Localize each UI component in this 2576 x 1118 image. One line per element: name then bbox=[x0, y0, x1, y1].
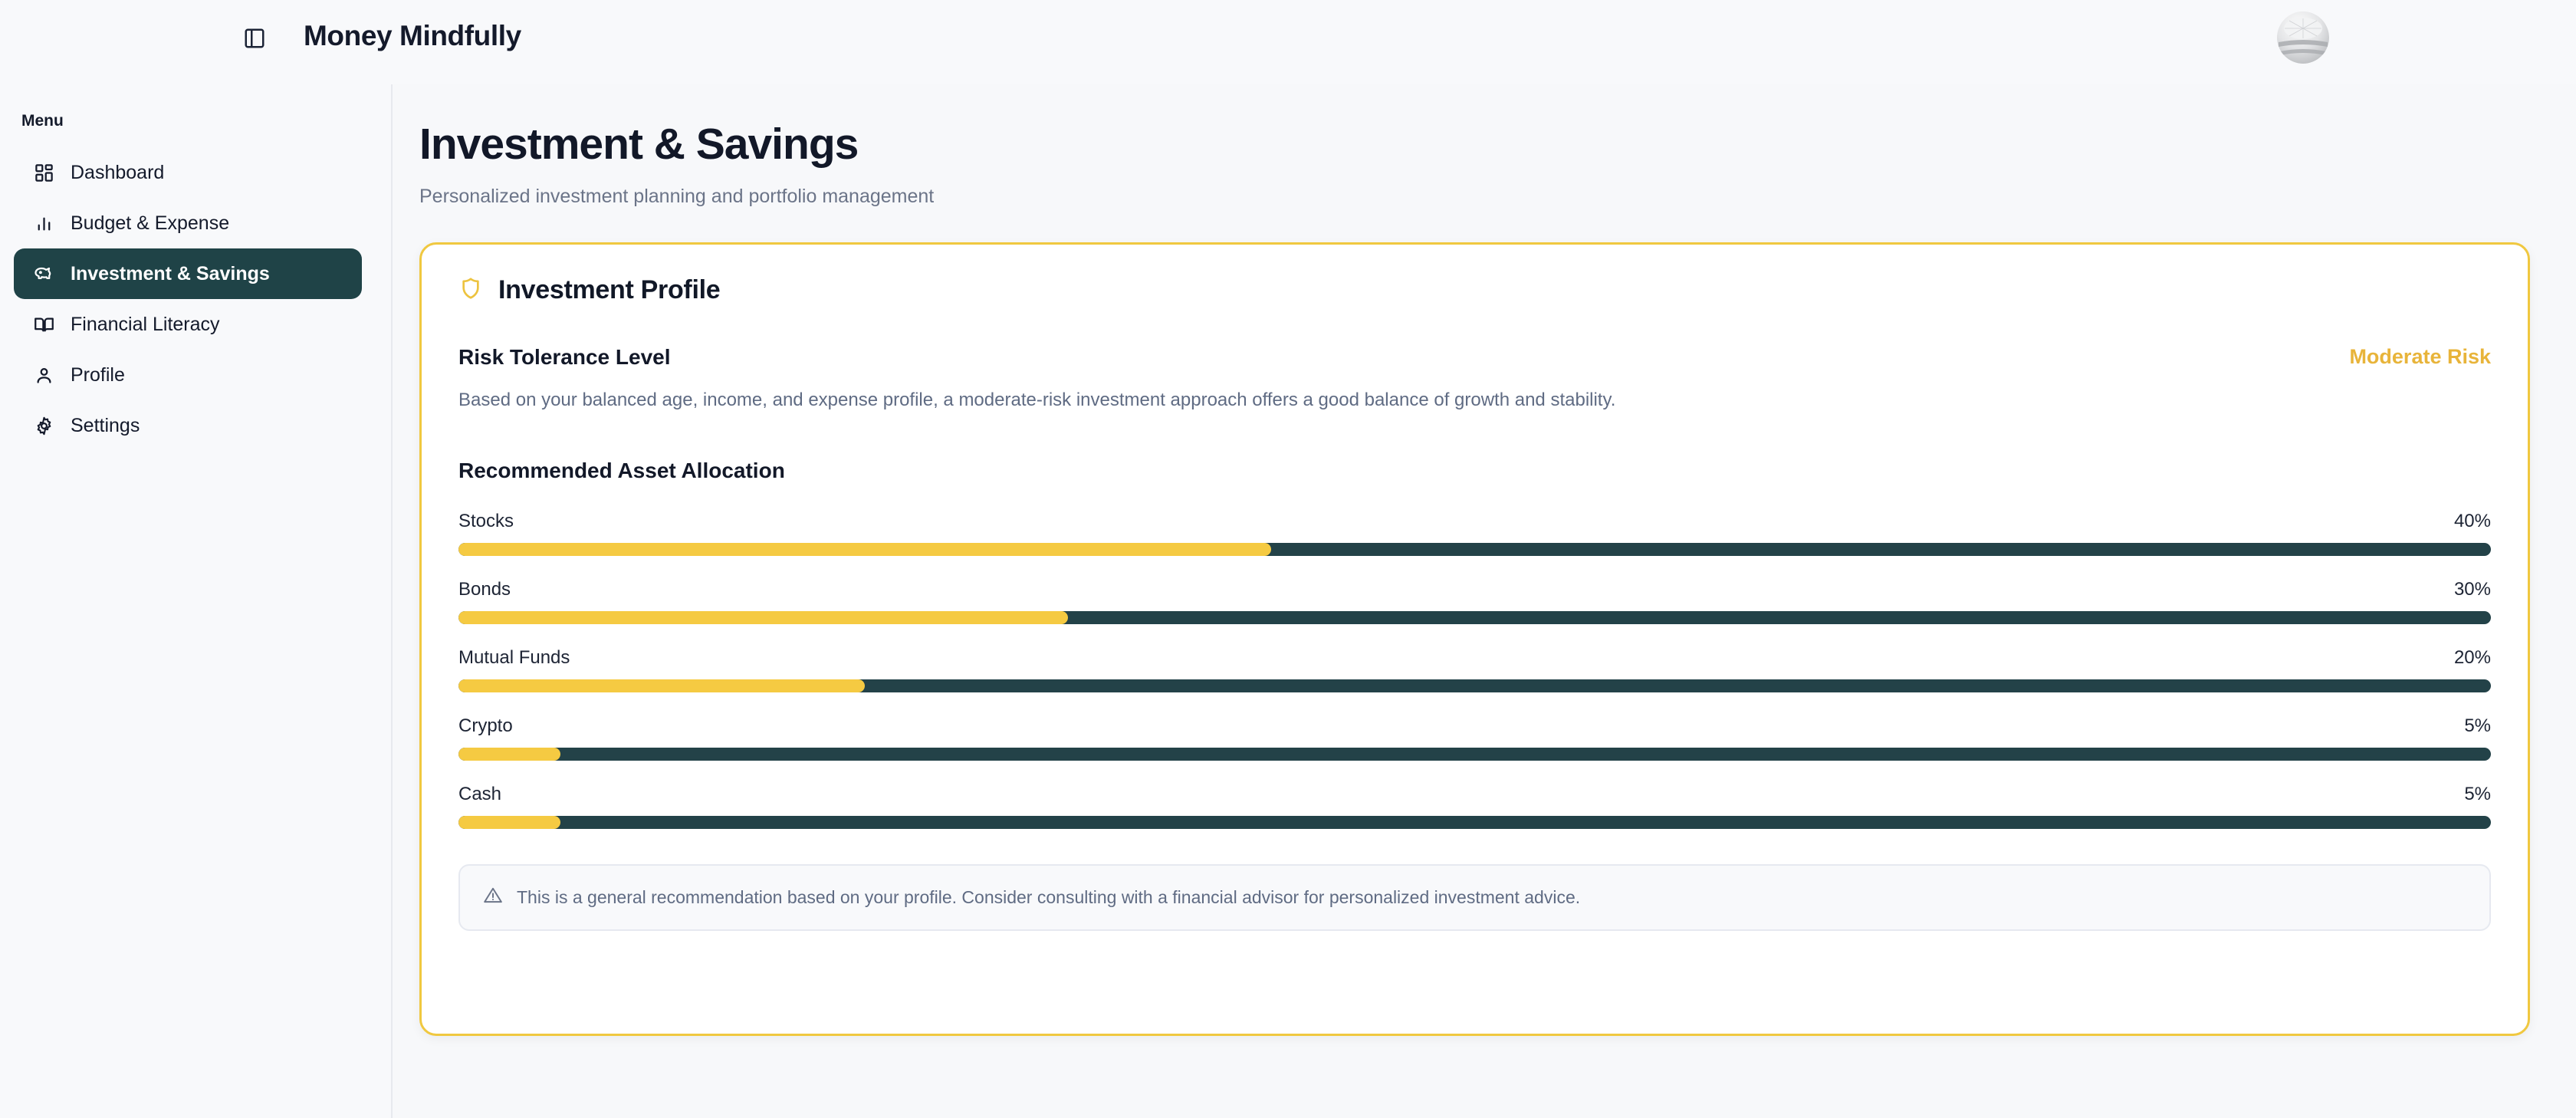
sidebar-item-label: Profile bbox=[71, 364, 125, 386]
sidebar-item-dashboard[interactable]: Dashboard bbox=[14, 147, 362, 198]
allocation-bar-track bbox=[458, 543, 2491, 556]
allocation-row: Mutual Funds 20% bbox=[458, 647, 2491, 692]
risk-tolerance-row: Risk Tolerance Level Moderate Risk bbox=[458, 345, 2491, 370]
warning-triangle-icon bbox=[483, 886, 503, 909]
allocation-name: Cash bbox=[458, 784, 501, 805]
brand-title: Money Mindfully bbox=[304, 20, 521, 52]
allocation-name: Bonds bbox=[458, 579, 511, 600]
bar-chart-icon bbox=[31, 210, 57, 236]
allocation-bar-fill bbox=[458, 543, 1271, 556]
allocation-section-title: Recommended Asset Allocation bbox=[458, 459, 2491, 483]
disclaimer-notice: This is a general recommendation based o… bbox=[458, 864, 2491, 931]
allocation-bar-fill bbox=[458, 611, 1068, 624]
sidebar-item-budget-expense[interactable]: Budget & Expense bbox=[14, 198, 362, 248]
page-title: Investment & Savings bbox=[419, 120, 2530, 170]
book-open-icon bbox=[31, 311, 57, 337]
allocation-percent: 5% bbox=[2464, 715, 2491, 737]
sidebar-item-label: Financial Literacy bbox=[71, 314, 220, 336]
allocation-bar-fill bbox=[458, 816, 560, 829]
sidebar-item-label: Budget & Expense bbox=[71, 212, 229, 235]
allocation-bar-fill bbox=[458, 679, 865, 692]
sidebar-item-profile[interactable]: Profile bbox=[14, 350, 362, 400]
allocation-percent: 5% bbox=[2464, 784, 2491, 805]
allocation-row: Stocks 40% bbox=[458, 511, 2491, 556]
allocation-bar-track bbox=[458, 748, 2491, 761]
main-content: Investment & Savings Personalized invest… bbox=[394, 84, 2576, 1118]
allocation-name: Mutual Funds bbox=[458, 647, 570, 669]
card-title: Investment Profile bbox=[498, 275, 720, 305]
sidebar-item-label: Investment & Savings bbox=[71, 263, 270, 285]
allocation-name: Stocks bbox=[458, 511, 514, 532]
allocation-row: Bonds 30% bbox=[458, 579, 2491, 624]
allocation-percent: 40% bbox=[2454, 511, 2491, 532]
investment-profile-card: Investment Profile Risk Tolerance Level … bbox=[419, 242, 2530, 1036]
sidebar-section-label: Menu bbox=[21, 112, 391, 130]
allocation-row: Cash 5% bbox=[458, 784, 2491, 829]
sidebar: Menu Dashboard Budget & Expense bbox=[0, 84, 393, 1118]
sidebar-item-financial-literacy[interactable]: Financial Literacy bbox=[14, 299, 362, 350]
allocation-row: Crypto 5% bbox=[458, 715, 2491, 761]
card-header: Investment Profile bbox=[458, 275, 2491, 305]
sidebar-toggle-button[interactable] bbox=[240, 25, 269, 54]
page-subtitle: Personalized investment planning and por… bbox=[419, 186, 2530, 208]
disclaimer-text: This is a general recommendation based o… bbox=[517, 887, 1580, 908]
sidebar-item-label: Settings bbox=[71, 415, 140, 437]
allocation-bar-track bbox=[458, 679, 2491, 692]
sidebar-item-investment-savings[interactable]: Investment & Savings bbox=[14, 248, 362, 299]
allocation-name: Crypto bbox=[458, 715, 513, 737]
allocation-list: Stocks 40% Bonds 30% Mutual Funds bbox=[458, 511, 2491, 829]
sidebar-item-settings[interactable]: Settings bbox=[14, 400, 362, 451]
panel-left-icon bbox=[243, 27, 266, 54]
grid-icon bbox=[31, 159, 57, 186]
risk-tolerance-label: Risk Tolerance Level bbox=[458, 345, 671, 370]
allocation-bar-track bbox=[458, 611, 2491, 624]
gear-icon bbox=[31, 413, 57, 439]
sidebar-item-label: Dashboard bbox=[71, 162, 164, 184]
allocation-percent: 30% bbox=[2454, 579, 2491, 600]
allocation-bar-fill bbox=[458, 748, 560, 761]
avatar[interactable] bbox=[2277, 12, 2329, 64]
top-bar: Money Mindfully bbox=[0, 0, 2576, 84]
allocation-bar-track bbox=[458, 816, 2491, 829]
allocation-percent: 20% bbox=[2454, 647, 2491, 669]
piggy-bank-icon bbox=[31, 261, 57, 287]
user-icon bbox=[31, 362, 57, 388]
risk-description: Based on your balanced age, income, and … bbox=[458, 388, 2491, 413]
shield-icon bbox=[458, 276, 483, 304]
risk-level-badge: Moderate Risk bbox=[2349, 345, 2491, 369]
